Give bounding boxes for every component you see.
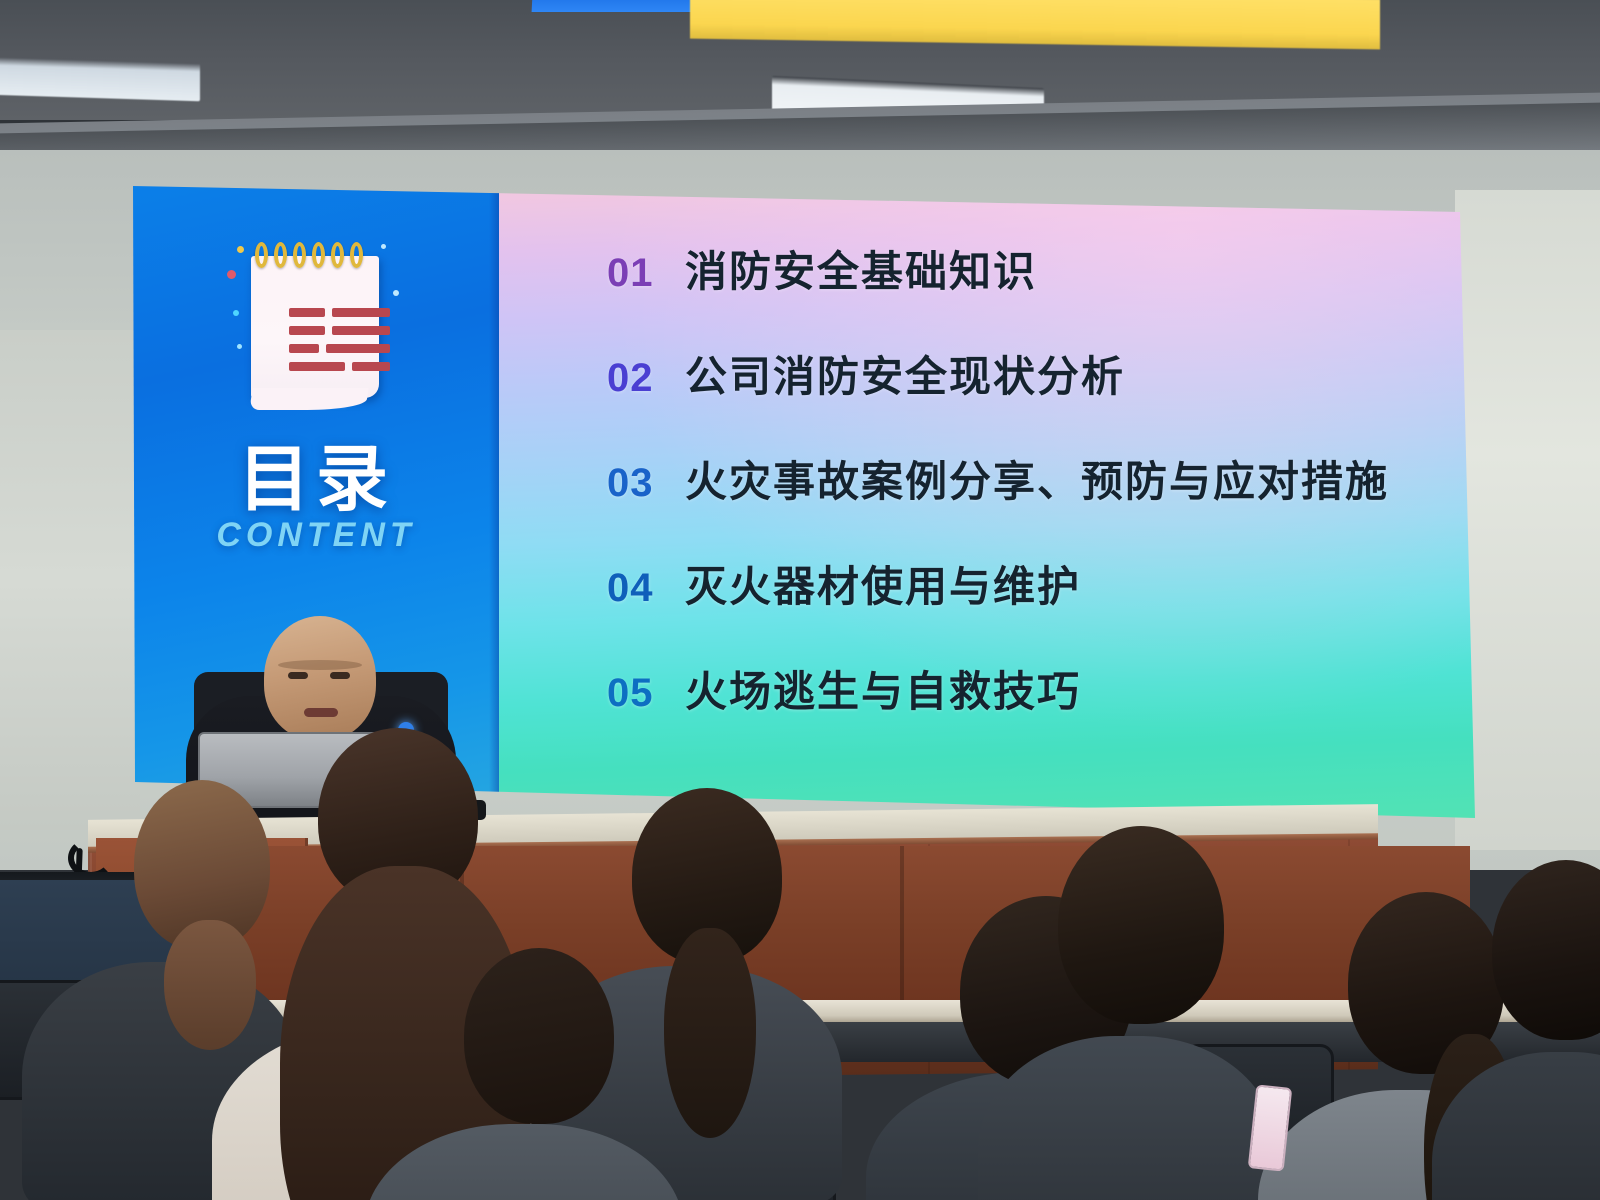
decor-dot bbox=[381, 244, 386, 249]
toc-label: 公司消防安全现状分析 bbox=[685, 343, 1125, 404]
presentation-photo-scene: 目录 CONTENT 01 消防安全基础知识 02 公司消防安全现状分析 03 bbox=[0, 0, 1600, 1200]
presenter-mouth bbox=[304, 708, 338, 717]
toc-number: 04 bbox=[607, 566, 685, 611]
notepad-icon bbox=[229, 234, 405, 414]
audience-ponytail bbox=[164, 920, 256, 1050]
notepad-rings bbox=[255, 242, 377, 272]
notepad-sheet bbox=[251, 256, 379, 398]
decor-dot bbox=[227, 270, 236, 279]
wall-left bbox=[0, 330, 140, 830]
ceiling-light-panel-left bbox=[0, 57, 200, 102]
presenter-head bbox=[264, 616, 376, 740]
toc-label: 火灾事故案例分享、预防与应对措施 bbox=[685, 448, 1389, 509]
list-item: 03 火灾事故案例分享、预防与应对措施 bbox=[607, 448, 1451, 509]
toc-label: 灭火器材使用与维护 bbox=[685, 553, 1081, 614]
list-item: 01 消防安全基础知识 bbox=[607, 238, 1451, 299]
notepad-lines bbox=[289, 308, 393, 380]
slide-sidebar-title: 目录 bbox=[133, 420, 499, 525]
wall-right bbox=[1455, 190, 1600, 850]
slide-sidebar-subtitle: CONTENT bbox=[133, 516, 499, 555]
toc-number: 02 bbox=[607, 356, 685, 401]
audience-head bbox=[464, 948, 614, 1124]
toc-number: 03 bbox=[607, 461, 685, 506]
toc-number: 05 bbox=[607, 671, 685, 716]
decor-dot bbox=[393, 290, 399, 296]
table-of-contents: 01 消防安全基础知识 02 公司消防安全现状分析 03 火灾事故案例分享、预防… bbox=[607, 238, 1451, 763]
audience-head bbox=[1058, 826, 1224, 1024]
toc-label: 消防安全基础知识 bbox=[685, 238, 1037, 299]
presenter-eye-right bbox=[330, 672, 350, 679]
audience-ponytail bbox=[664, 928, 756, 1138]
decor-dot bbox=[237, 246, 244, 253]
toc-number: 01 bbox=[607, 251, 685, 296]
decor-dot bbox=[237, 344, 242, 349]
list-item: 04 灭火器材使用与维护 bbox=[607, 553, 1451, 614]
toc-label: 火场逃生与自救技巧 bbox=[685, 658, 1081, 719]
ceiling-light-blue bbox=[532, 0, 693, 12]
slide-content: 01 消防安全基础知识 02 公司消防安全现状分析 03 火灾事故案例分享、预防… bbox=[499, 186, 1475, 818]
presenter-eye-left bbox=[288, 672, 308, 679]
list-item: 02 公司消防安全现状分析 bbox=[607, 343, 1451, 404]
decor-dot bbox=[233, 310, 239, 316]
list-item: 05 火场逃生与自救技巧 bbox=[607, 658, 1451, 719]
